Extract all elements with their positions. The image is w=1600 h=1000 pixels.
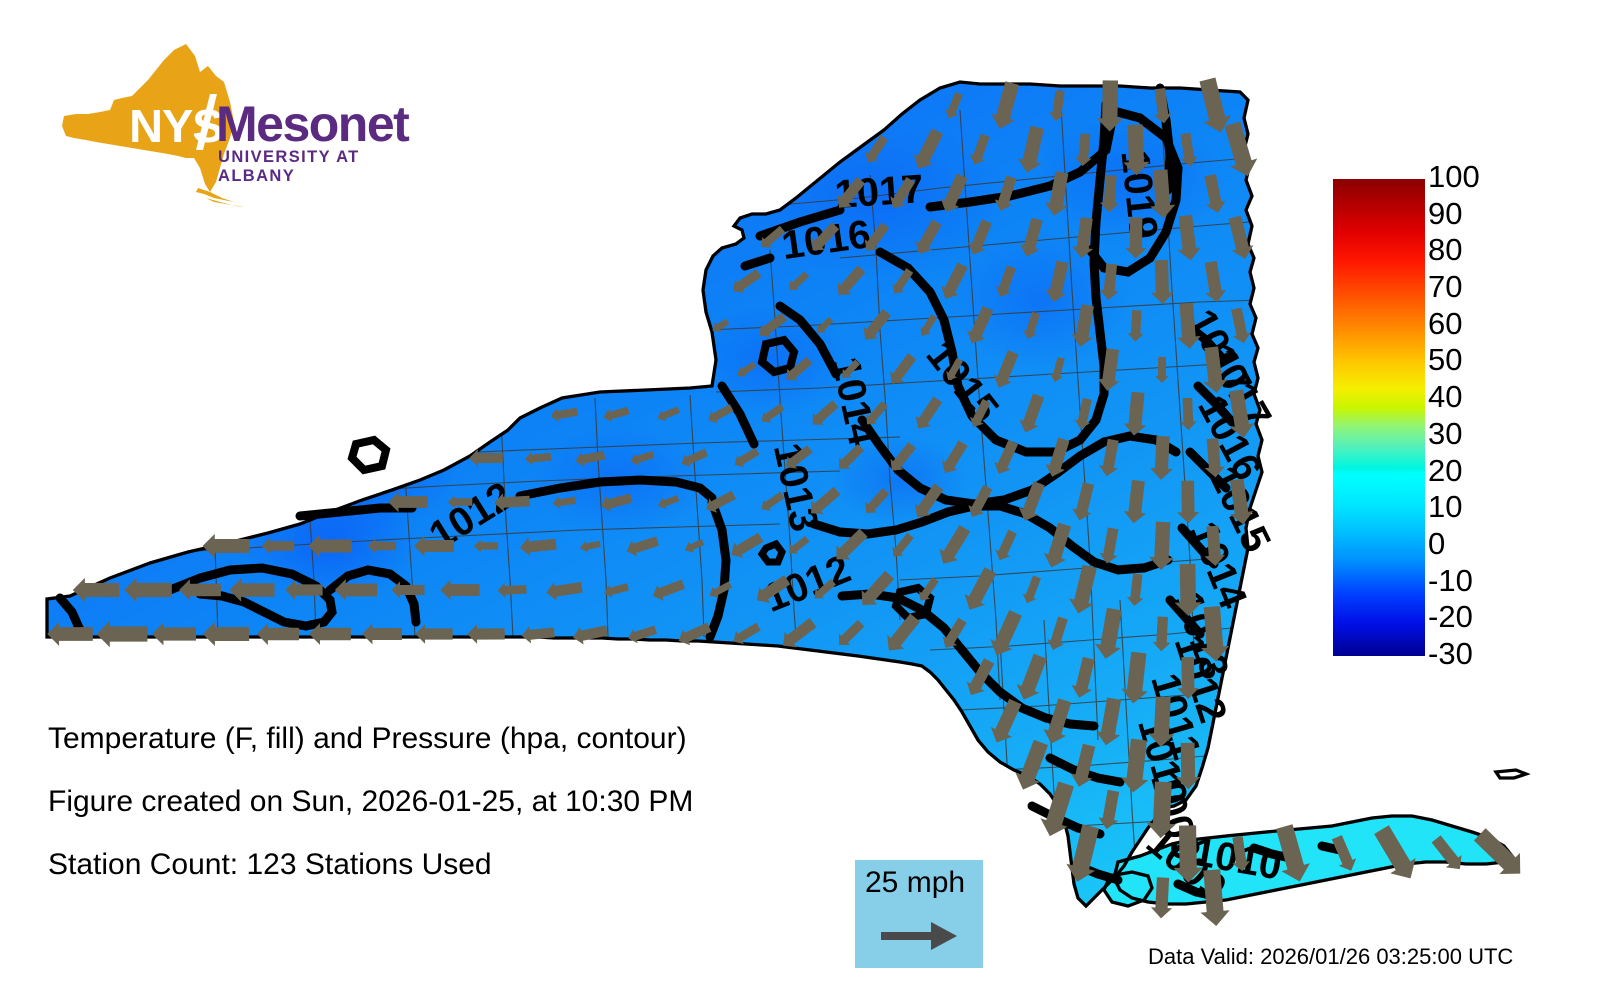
wind-legend-label: 25 mph <box>865 866 965 900</box>
colorbar-tick-100: 100 <box>1428 159 1480 195</box>
caption-title: Temperature (F, fill) and Pressure (hpa,… <box>48 722 687 756</box>
colorbar-tick-0: 0 <box>1428 526 1445 562</box>
wind-legend-arrow-icon <box>879 918 961 954</box>
wind-speed-legend: 25 mph <box>855 860 983 968</box>
colorbar-tick-70: 70 <box>1428 269 1462 305</box>
colorbar-tick-80: 80 <box>1428 232 1462 268</box>
colorbar-tick-30: 30 <box>1428 416 1462 452</box>
colorbar-tick-60: 60 <box>1428 306 1462 342</box>
caption-created: Figure created on Sun, 2026-01-25, at 10… <box>48 785 693 819</box>
caption-station-count: Station Count: 123 Stations Used <box>48 848 492 882</box>
temperature-colorbar <box>1333 179 1425 656</box>
colorbar-tick--30: -30 <box>1428 636 1473 672</box>
colorbar-tick--20: -20 <box>1428 599 1473 635</box>
colorbar-tick--10: -10 <box>1428 563 1473 599</box>
weather-map-page: NYS Mesonet UNIVERSITY AT ALBANY <box>0 0 1600 1000</box>
data-valid-timestamp: Data Valid: 2026/01/26 03:25:00 UTC <box>1148 944 1513 970</box>
colorbar-tick-20: 20 <box>1428 453 1462 489</box>
colorbar-tick-10: 10 <box>1428 489 1462 525</box>
colorbar-tick-50: 50 <box>1428 342 1462 378</box>
colorbar-tick-40: 40 <box>1428 379 1462 415</box>
colorbar-gradient <box>1333 179 1425 656</box>
colorbar-tick-90: 90 <box>1428 196 1462 232</box>
